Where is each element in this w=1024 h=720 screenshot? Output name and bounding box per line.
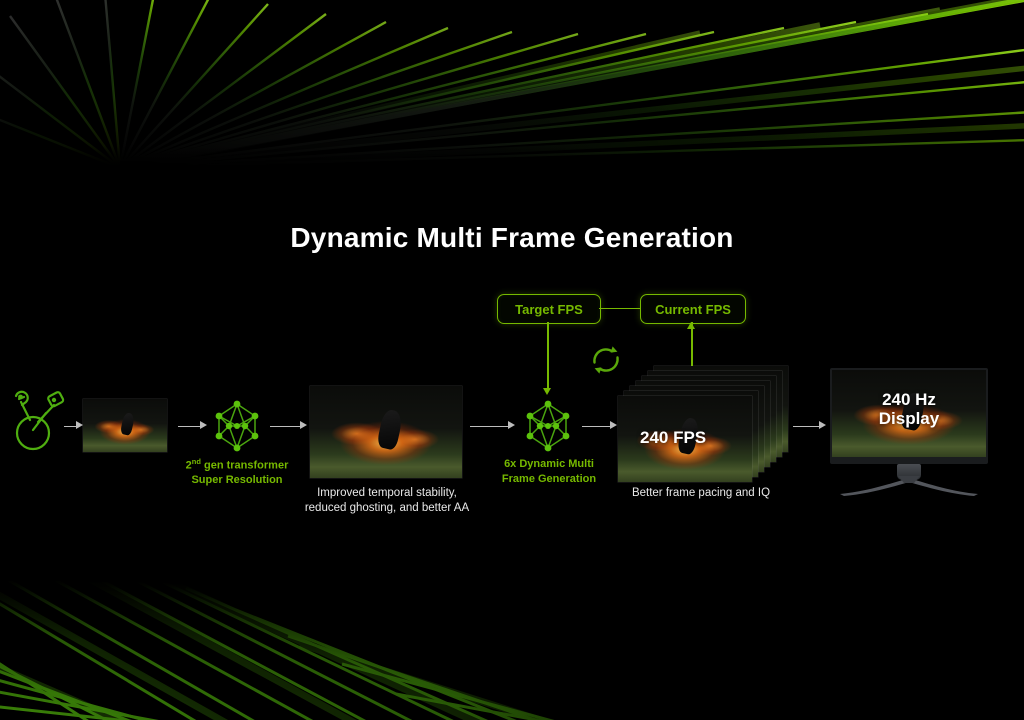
gaming-monitor: 240 Hz Display — [830, 368, 988, 498]
arrow-head-right-frame1 — [76, 421, 83, 429]
caption-frame-pacing: Better frame pacing and IQ — [608, 486, 794, 501]
game-frame-large — [310, 386, 462, 478]
current-fps-box[interactable]: Current FPS — [640, 294, 746, 324]
target-fps-box[interactable]: Target FPS — [497, 294, 601, 324]
top-decor-band — [0, 0, 1024, 168]
caption-frame-generation: 6x Dynamic MultiFrame Generation — [479, 457, 619, 486]
game-frame-thumbnail — [83, 399, 167, 452]
neural-network-icon-framegen — [520, 398, 576, 459]
monitor-stand — [838, 476, 980, 496]
sr-line1-sup: nd — [192, 457, 201, 466]
connector-stack-to-display — [793, 426, 819, 428]
fg-line1: 6x Dynamic Multi — [504, 458, 594, 470]
fg-line2: Frame Generation — [502, 473, 596, 485]
game-input-controller-icon — [8, 386, 70, 457]
bottom-decor-band — [0, 552, 1024, 720]
connector-superres-to-upscaled — [270, 426, 300, 428]
arrow-head-right-stack — [610, 421, 617, 429]
sr-line2: Super Resolution — [191, 474, 282, 486]
connector-frame-to-superres — [178, 426, 200, 428]
slide-canvas: Dynamic Multi Frame Generation Target FP… — [0, 0, 1024, 720]
neural-network-icon-superres — [209, 398, 265, 459]
arrow-head-up-currentfps — [687, 322, 695, 329]
arrow-head-right-upscaled — [300, 421, 307, 429]
frame-stack: 240 FPS — [618, 366, 788, 478]
connector-target-to-framegen — [547, 322, 549, 390]
monitor-screen: 240 Hz Display — [830, 368, 988, 464]
slide-title: Dynamic Multi Frame Generation — [0, 222, 1024, 254]
sr-line1-suffix: gen transformer — [201, 460, 288, 472]
arrow-head-right-framegen — [508, 421, 515, 429]
display-label: 240 Hz Display — [832, 390, 986, 428]
fps-value-label: 240 FPS — [640, 428, 706, 448]
connector-target-to-current — [599, 308, 640, 310]
arrow-head-down-framegen — [543, 388, 551, 395]
caption-upscaled-quality: Improved temporal stability, reduced gho… — [296, 486, 478, 516]
arrow-head-right-superres — [200, 421, 207, 429]
connector-upscaled-to-framegen — [470, 426, 508, 428]
caption-super-resolution: 2nd gen transformerSuper Resolution — [162, 457, 312, 488]
connector-framegen-to-stack — [582, 426, 610, 428]
arrow-head-right-display — [819, 421, 826, 429]
